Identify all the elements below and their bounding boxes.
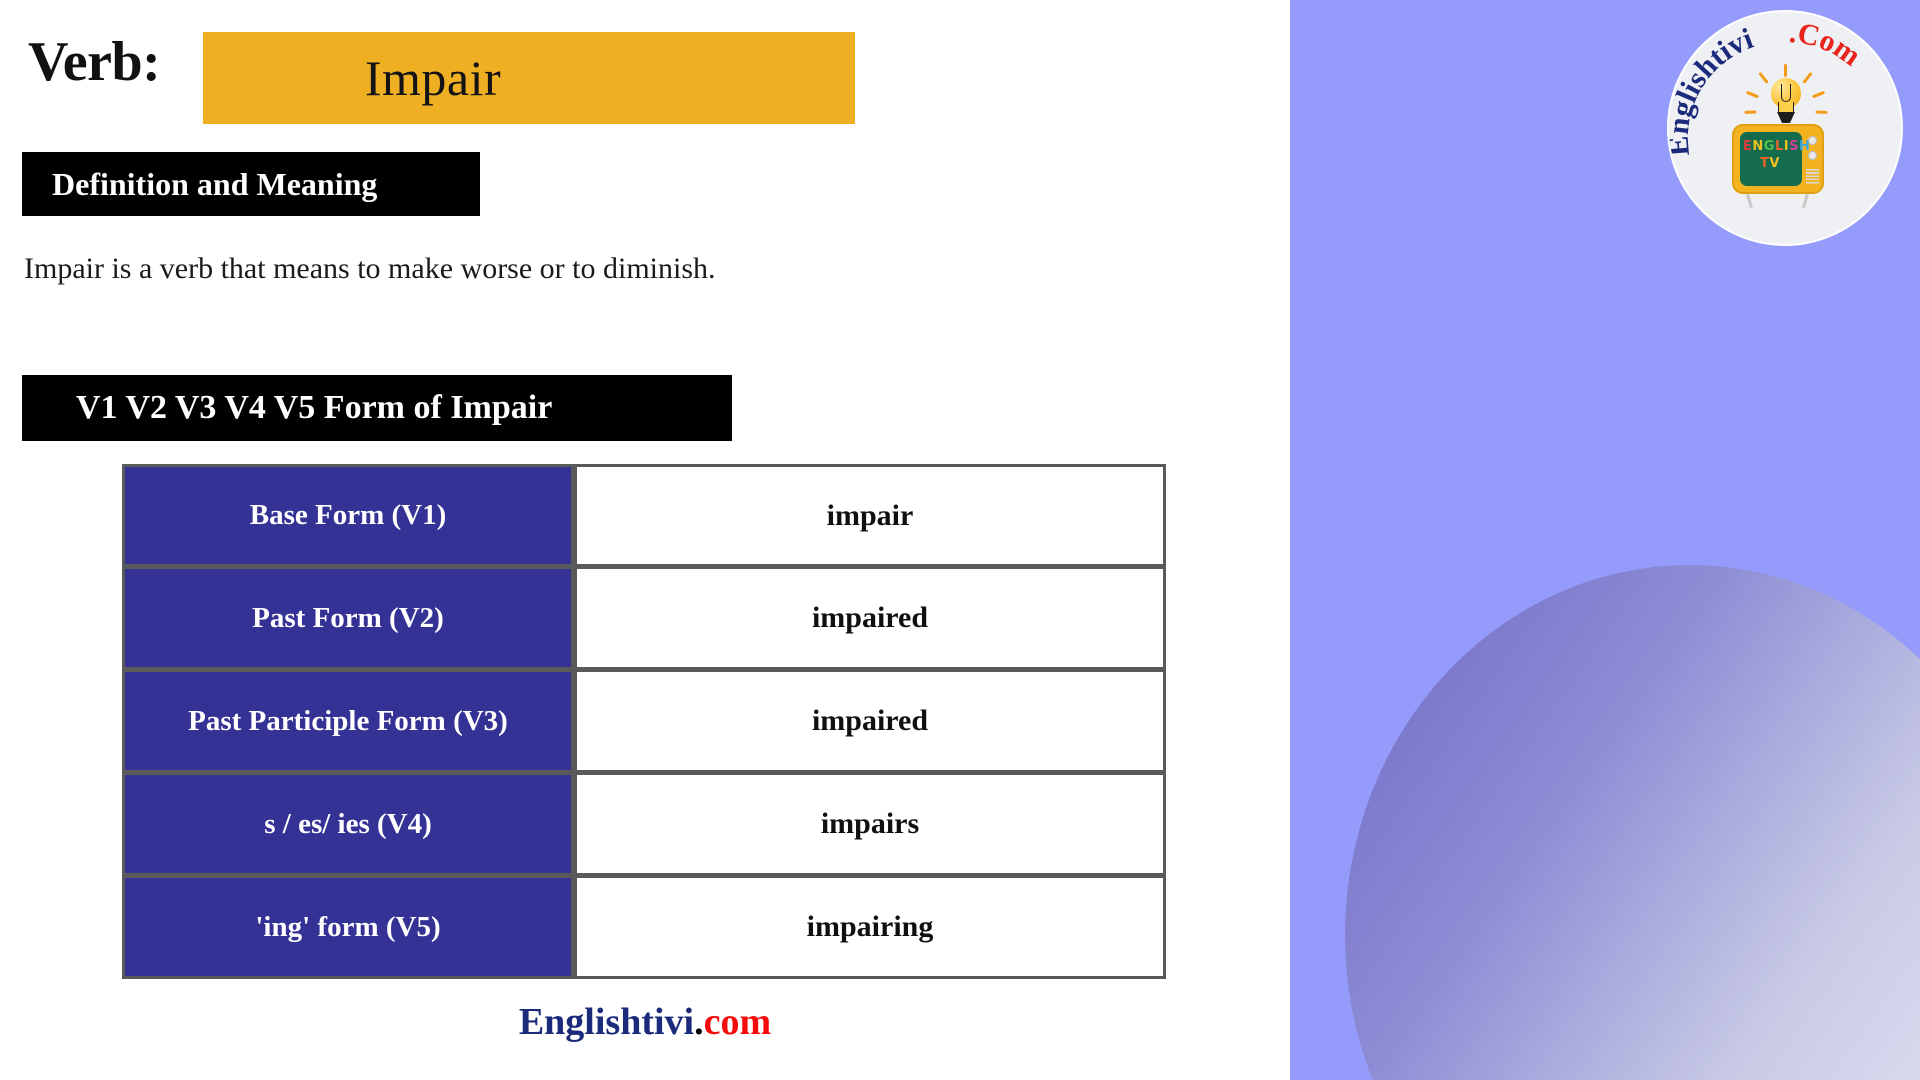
forms-section-tag: V1 V2 V3 V4 V5 Form of Impair	[22, 375, 732, 441]
tv-screen-text-line2: TV	[1760, 157, 1780, 170]
table-row: Past Form (V2) impaired	[122, 567, 1166, 670]
table-row: Base Form (V1) impair	[122, 464, 1166, 567]
panel-oval-shape	[1345, 565, 1920, 1080]
form-value-v2: impaired	[574, 567, 1166, 670]
form-label-v1: Base Form (V1)	[122, 464, 574, 567]
form-label-v2: Past Form (V2)	[122, 567, 574, 670]
englishtivi-logo-badge[interactable]: Englishtivi .Com ENGLISH TV	[1669, 12, 1901, 244]
form-value-v5: impairing	[574, 876, 1166, 979]
verb-label: Verb:	[28, 30, 160, 94]
form-label-v3: Past Participle Form (V3)	[122, 670, 574, 773]
retro-tv-icon: ENGLISH TV	[1732, 124, 1840, 208]
lightbulb-icon	[1757, 70, 1815, 132]
tv-screen-text-line1: ENGLISH	[1743, 140, 1810, 153]
definition-section-tag: Definition and Meaning	[22, 152, 480, 216]
table-row: 'ing' form (V5) impairing	[122, 876, 1166, 979]
footer-brand-dot: .	[694, 1001, 704, 1043]
form-label-v4: s / es/ ies (V4)	[122, 773, 574, 876]
definition-text: Impair is a verb that means to make wors…	[24, 252, 716, 286]
form-value-v4: impairs	[574, 773, 1166, 876]
logo-arc-text-right: .Com	[1788, 16, 1867, 73]
verb-value: Impair	[203, 32, 663, 124]
form-value-v1: impair	[574, 464, 1166, 567]
form-value-v3: impaired	[574, 670, 1166, 773]
footer-brand[interactable]: Englishtivi.com	[0, 1000, 1290, 1044]
verb-forms-table: Base Form (V1) impair Past Form (V2) imp…	[122, 464, 1166, 979]
form-label-v5: 'ing' form (V5)	[122, 876, 574, 979]
footer-brand-name: Englishtivi	[519, 1001, 694, 1043]
table-row: s / es/ ies (V4) impairs	[122, 773, 1166, 876]
footer-brand-tld: com	[704, 1001, 772, 1043]
table-row: Past Participle Form (V3) impaired	[122, 670, 1166, 773]
verb-forms-table-body: Base Form (V1) impair Past Form (V2) imp…	[122, 464, 1166, 979]
verb-value-highlight-box: Impair	[203, 32, 855, 124]
